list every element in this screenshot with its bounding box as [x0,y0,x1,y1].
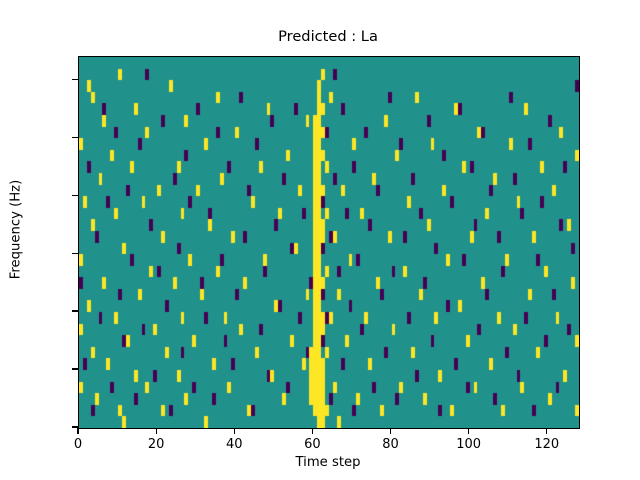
spectrogram-heatmap [79,57,579,428]
x-tick-label: 100 [439,436,499,454]
x-tick-mark [234,428,235,435]
y-tick-mark [72,253,79,254]
y-axis-label: Frequency (Hz) [9,100,24,360]
x-tick-label: 80 [361,436,421,454]
x-tick-mark [468,428,469,435]
heatmap-plot-area [78,56,580,429]
x-tick-mark [390,428,391,435]
x-tick-mark [77,428,78,435]
x-tick-label: 0 [48,436,108,454]
page-title: Predicted : La [78,28,578,45]
matplotlib-figure: Predicted : La 0200004000060000800001000… [0,0,640,480]
y-tick-mark [72,79,79,80]
x-tick-mark [546,428,547,435]
x-axis-label: Time step [78,455,578,470]
y-tick-mark [72,310,79,311]
y-tick-mark [72,137,79,138]
x-tick-label: 20 [126,436,186,454]
x-tick-mark [312,428,313,435]
x-tick-label: 120 [517,436,577,454]
y-tick-mark [72,195,79,196]
x-tick-label: 40 [204,436,264,454]
x-tick-label: 60 [282,436,342,454]
x-tick-mark [156,428,157,435]
y-tick-mark [72,368,79,369]
